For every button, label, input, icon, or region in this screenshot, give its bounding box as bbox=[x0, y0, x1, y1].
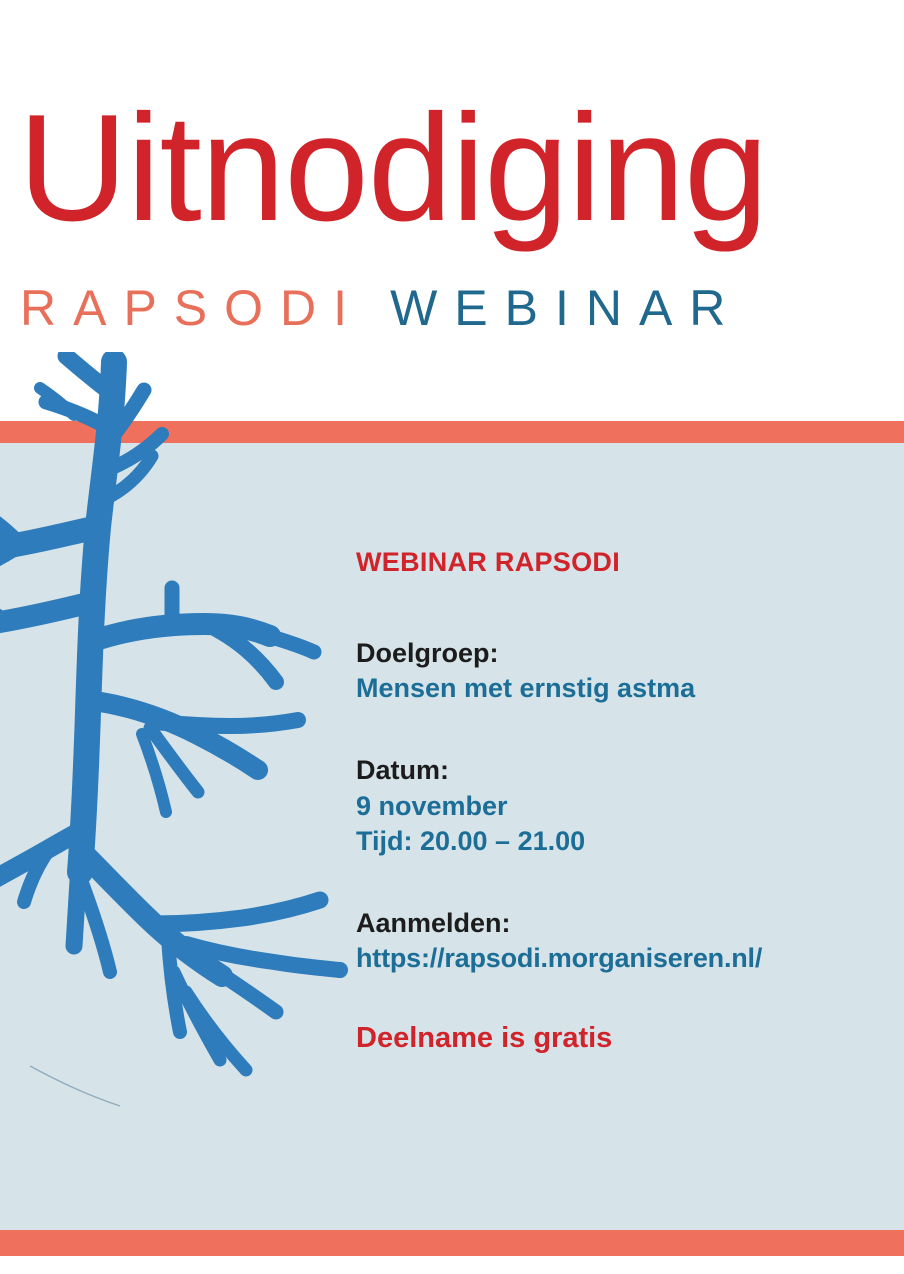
field-value-doelgroep: Mensen met ernstig astma bbox=[356, 671, 904, 707]
registration-url-link[interactable]: https://rapsodi.morganiseren.nl/ bbox=[356, 941, 904, 977]
field-doelgroep: Doelgroep: Mensen met ernstig astma bbox=[356, 636, 904, 707]
invitation-poster: Uitnodiging RAPSODIWEBINAR bbox=[0, 0, 904, 1274]
footer-white-strip bbox=[0, 1256, 904, 1274]
coral-band-top bbox=[0, 421, 904, 443]
cta-free-participation: Deelname is gratis bbox=[356, 1023, 904, 1055]
coral-band-bottom bbox=[0, 1230, 904, 1256]
field-label-aanmelden: Aanmelden: bbox=[356, 906, 904, 942]
webinar-heading: WEBINAR RAPSODI bbox=[356, 548, 904, 578]
subtitle-webinar: WEBINAR bbox=[390, 280, 742, 336]
subtitle-rapsodi: RAPSODI bbox=[20, 280, 364, 336]
subtitle: RAPSODIWEBINAR bbox=[20, 283, 742, 333]
field-label-doelgroep: Doelgroep: bbox=[356, 636, 904, 672]
field-value-datum-date: 9 november bbox=[356, 789, 904, 825]
page-title: Uitnodiging bbox=[18, 92, 768, 244]
field-aanmelden: Aanmelden: https://rapsodi.morganiseren.… bbox=[356, 906, 904, 977]
field-label-datum: Datum: bbox=[356, 753, 904, 789]
content-column: WEBINAR RAPSODI Doelgroep: Mensen met er… bbox=[356, 548, 904, 1055]
field-value-datum-time: Tijd: 20.00 – 21.00 bbox=[356, 824, 904, 860]
field-datum: Datum: 9 november Tijd: 20.00 – 21.00 bbox=[356, 753, 904, 860]
header: Uitnodiging RAPSODIWEBINAR bbox=[0, 0, 904, 421]
